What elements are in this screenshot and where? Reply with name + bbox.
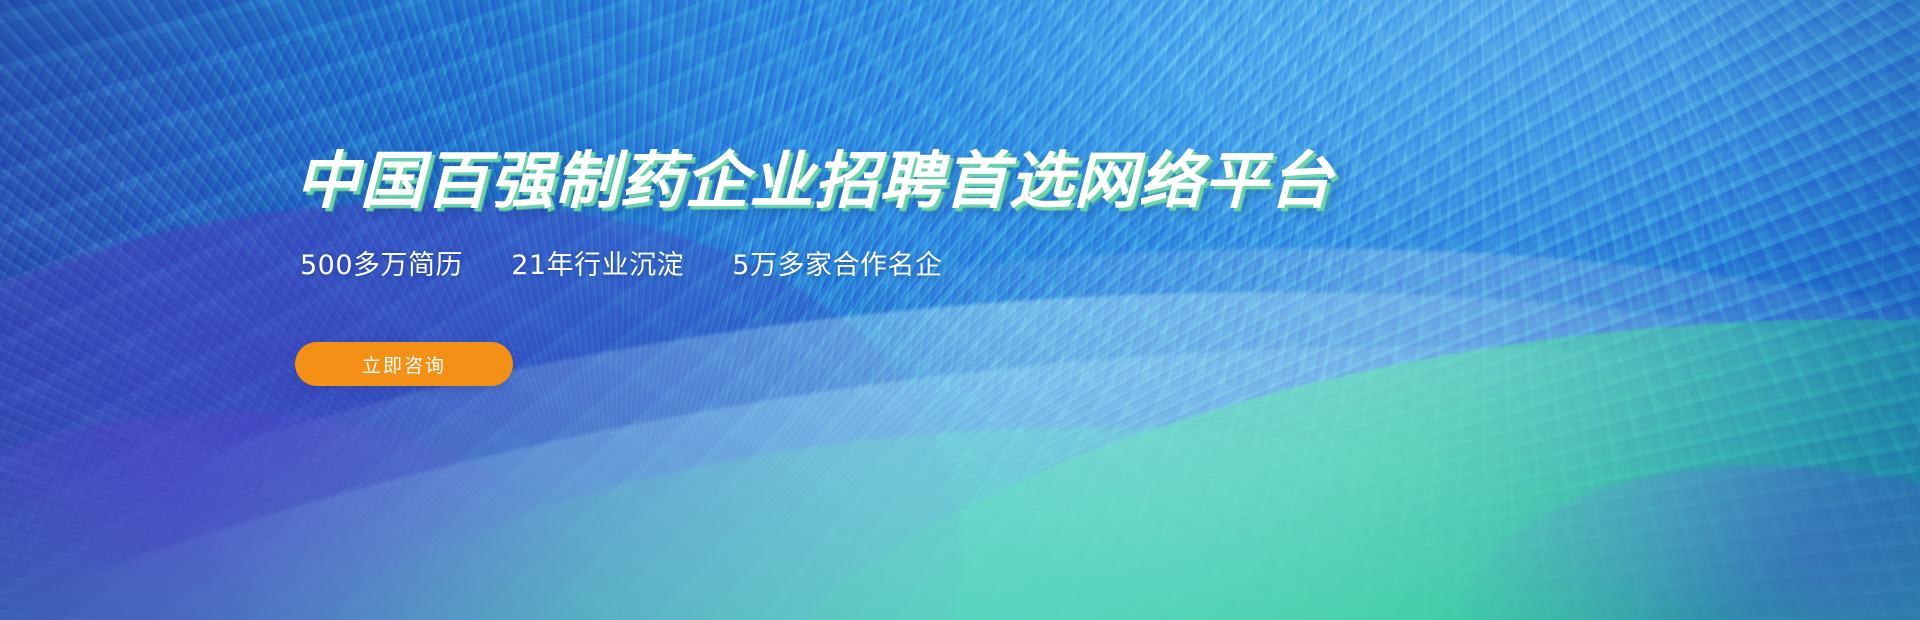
banner-subheadline: 500多万简历 21年行业沉淀 5万多家合作名企: [300, 243, 942, 282]
banner-headline: 中国百强制药企业招聘首选网络平台: [295, 148, 1333, 213]
subhead-stat-companies: 5万多家合作名企: [732, 250, 942, 281]
banner-content: 中国百强制药企业招聘首选网络平台 500多万简历 21年行业沉淀 5万多家合作名…: [295, 0, 1295, 620]
subhead-stat-years: 21年行业沉淀: [511, 250, 684, 281]
subhead-stat-resumes: 500多万简历: [300, 250, 463, 281]
hero-banner: 中国百强制药企业招聘首选网络平台 500多万简历 21年行业沉淀 5万多家合作名…: [0, 0, 1920, 620]
consult-now-button[interactable]: 立即咨询: [295, 342, 513, 386]
